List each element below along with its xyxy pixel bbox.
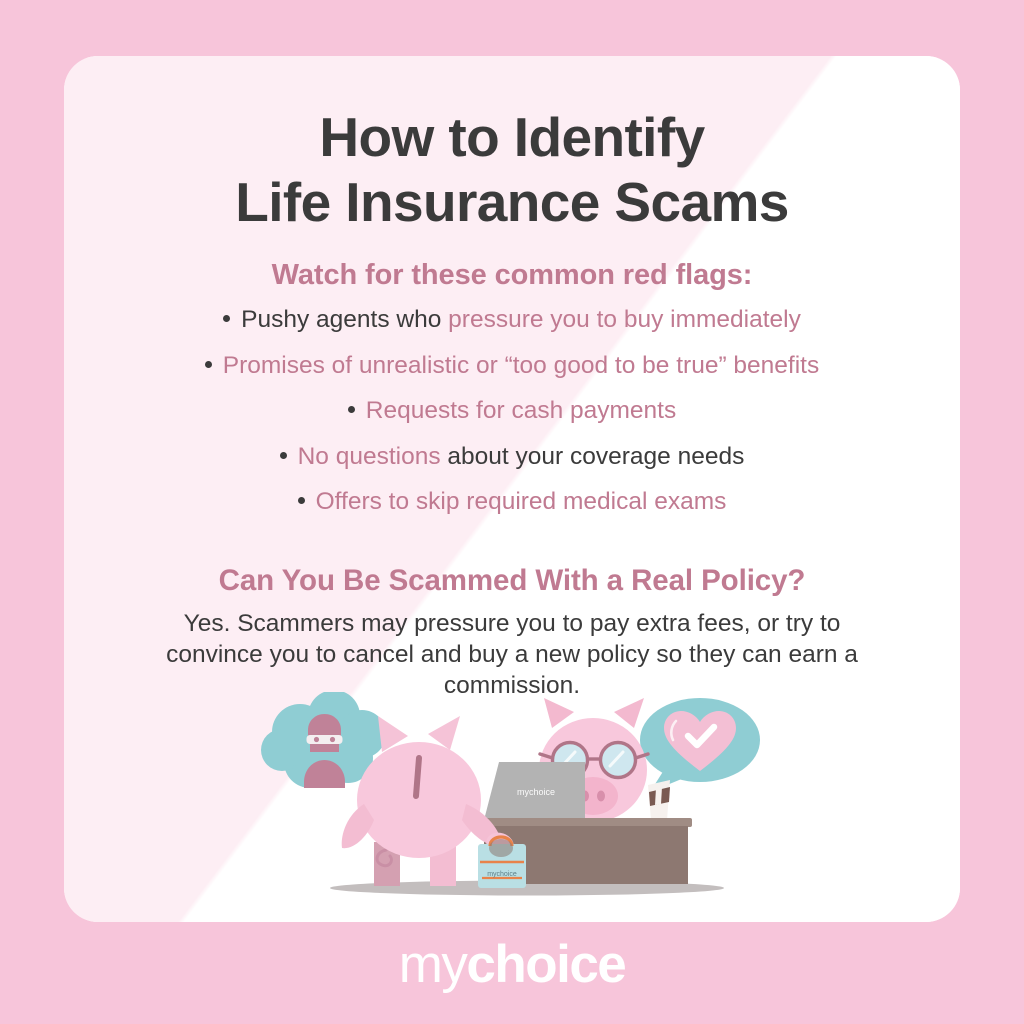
logo-choice: choice — [466, 935, 625, 994]
bag-brand-label: mychoice — [487, 871, 517, 878]
coin-slot — [416, 758, 419, 796]
red-flags-heading: Watch for these common red flags: — [64, 259, 960, 292]
bullet-text-highlight: No questions — [298, 443, 441, 470]
bullet-dot-icon — [348, 406, 355, 413]
title-line-2: Life Insurance Scams — [64, 170, 960, 235]
card-content: How to Identify Life Insurance Scams Wat… — [64, 56, 960, 922]
piggy-bank-scene-illustration: mychoice — [64, 692, 960, 922]
list-item: Promises of unrealistic or “too good to … — [64, 354, 960, 400]
title-line-1: How to Identify — [64, 105, 960, 170]
red-flags-list: Pushy agents who pressure you to buy imm… — [64, 308, 960, 536]
bullet-dot-icon — [205, 361, 212, 368]
bullet-text-dark-after: about your coverage needs — [441, 443, 745, 470]
bullet-dot-icon — [280, 452, 287, 459]
bullet-text-dark-before: Pushy agents who — [241, 306, 448, 333]
coffee-cup — [648, 780, 670, 820]
bullet-text-highlight: pressure you to buy immediately — [448, 306, 801, 333]
bullet-text-highlight: Requests for cash payments — [366, 397, 677, 424]
infographic-poster: How to Identify Life Insurance Scams Wat… — [0, 0, 1024, 1024]
page-title: How to Identify Life Insurance Scams — [64, 105, 960, 235]
list-item: Requests for cash payments — [64, 399, 960, 445]
bullet-text-highlight: Promises of unrealistic or “too good to … — [223, 352, 819, 379]
logo-my: my — [399, 935, 467, 994]
content-card: How to Identify Life Insurance Scams Wat… — [64, 56, 960, 922]
masked-thief-icon — [304, 714, 345, 788]
bullet-text-highlight: Offers to skip required medical exams — [316, 488, 727, 515]
mychoice-logo: mychoice — [0, 938, 1024, 991]
heart-check-speech-bubble — [640, 698, 760, 792]
list-item: Pushy agents who pressure you to buy imm… — [64, 308, 960, 354]
real-policy-heading: Can You Be Scammed With a Real Policy? — [64, 564, 960, 598]
list-item: Offers to skip required medical exams — [64, 490, 960, 536]
laptop: mychoice — [484, 762, 585, 820]
list-item: No questions about your coverage needs — [64, 445, 960, 491]
real-policy-body: Yes. Scammers may pressure you to pay ex… — [164, 608, 860, 701]
bullet-dot-icon — [298, 497, 305, 504]
mychoice-shopping-bag: mychoice — [478, 837, 526, 888]
bullet-dot-icon — [223, 315, 230, 322]
laptop-brand-label: mychoice — [517, 787, 555, 797]
